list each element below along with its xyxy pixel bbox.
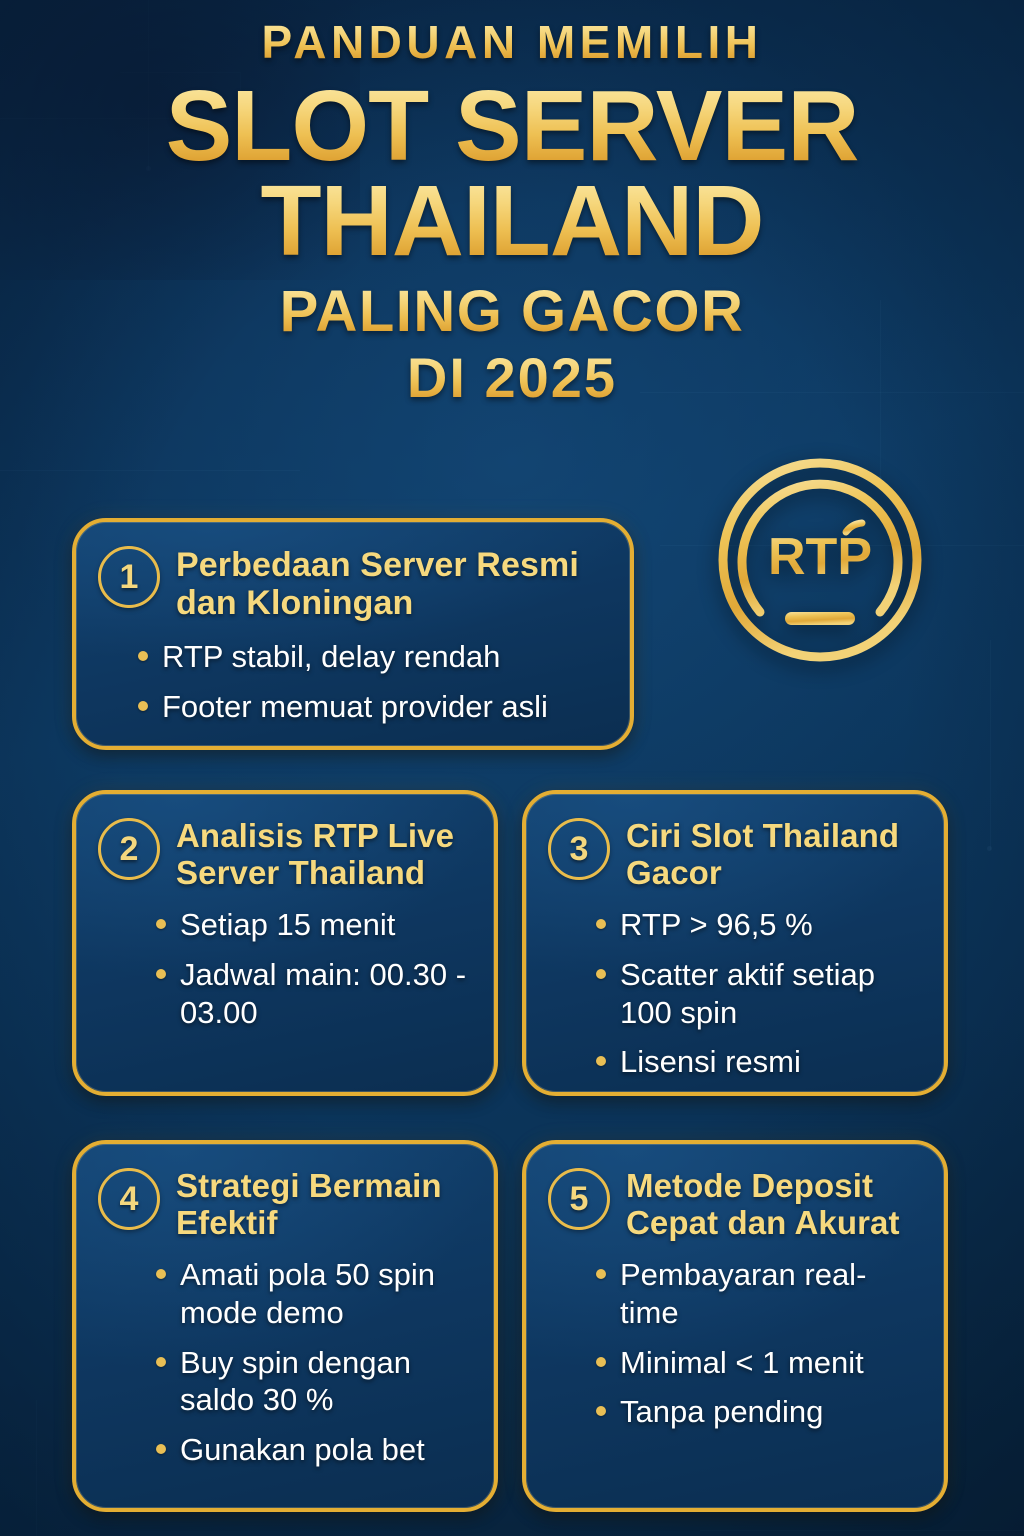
card-number-badge: 2	[98, 818, 160, 880]
subtitle-text: PALING GACOR	[0, 282, 1024, 341]
list-item: Lisensi resmi	[590, 1043, 922, 1081]
list-item: RTP stabil, delay rendah	[132, 638, 608, 676]
card-header: 1 Perbedaan Server Resmi dan Kloningan	[98, 544, 608, 622]
card-title: Metode Deposit Cepat dan Akurat	[626, 1166, 922, 1242]
card-bullet-list: Pembayaran real-time Minimal < 1 menit T…	[590, 1256, 922, 1431]
card-header: 4 Strategi Bermain Efektif	[98, 1166, 472, 1242]
card-bullet-list: RTP > 96,5 % Scatter aktif setiap 100 sp…	[590, 906, 922, 1081]
card-header: 3 Ciri Slot Thailand Gacor	[548, 816, 922, 892]
card-number-badge: 3	[548, 818, 610, 880]
card-number-badge: 5	[548, 1168, 610, 1230]
card-title: Analisis RTP Live Server Thailand	[176, 816, 472, 892]
year-text: DI 2025	[0, 349, 1024, 406]
card-bullet-list: Amati pola 50 spin mode demo Buy spin de…	[150, 1256, 472, 1469]
infographic-poster: PANDUAN MEMILIH SLOT SERVER THAILAND PAL…	[0, 0, 1024, 1536]
card-bullet-list: RTP stabil, delay rendah Footer memuat p…	[132, 638, 608, 726]
info-card-2[interactable]: 2 Analisis RTP Live Server Thailand Seti…	[72, 790, 498, 1096]
list-item: RTP > 96,5 %	[590, 906, 922, 944]
card-number-badge: 4	[98, 1168, 160, 1230]
list-item: Buy spin dengan saldo 30 %	[150, 1344, 472, 1420]
list-item: Footer memuat provider asli	[132, 688, 608, 726]
eyebrow-text: PANDUAN MEMILIH	[0, 18, 1024, 66]
list-item: Tanpa pending	[590, 1393, 922, 1431]
title-line-1: SLOT SERVER	[0, 78, 1024, 175]
card-header: 2 Analisis RTP Live Server Thailand	[98, 816, 472, 892]
list-item: Jadwal main: 00.30 - 03.00	[150, 956, 472, 1032]
card-title: Strategi Bermain Efektif	[176, 1166, 472, 1242]
card-title: Perbedaan Server Resmi dan Kloningan	[176, 544, 608, 622]
card-bullet-list: Setiap 15 menit Jadwal main: 00.30 - 03.…	[150, 906, 472, 1031]
info-card-4[interactable]: 4 Strategi Bermain Efektif Amati pola 50…	[72, 1140, 498, 1512]
info-card-1[interactable]: 1 Perbedaan Server Resmi dan Kloningan R…	[72, 518, 634, 750]
list-item: Setiap 15 menit	[150, 906, 472, 944]
list-item: Scatter aktif setiap 100 spin	[590, 956, 922, 1032]
list-item: Minimal < 1 menit	[590, 1344, 922, 1382]
card-number-badge: 1	[98, 546, 160, 608]
svg-text:RTP: RTP	[768, 528, 872, 586]
list-item: Amati pola 50 spin mode demo	[150, 1256, 472, 1332]
list-item: Gunakan pola bet	[150, 1431, 472, 1469]
info-card-3[interactable]: 3 Ciri Slot Thailand Gacor RTP > 96,5 % …	[522, 790, 948, 1096]
title-line-2: THAILAND	[0, 173, 1024, 270]
poster-header: PANDUAN MEMILIH SLOT SERVER THAILAND PAL…	[0, 18, 1024, 407]
card-title: Ciri Slot Thailand Gacor	[626, 816, 922, 892]
list-item: Pembayaran real-time	[590, 1256, 922, 1332]
info-card-5[interactable]: 5 Metode Deposit Cepat dan Akurat Pembay…	[522, 1140, 948, 1512]
rtp-gauge-icon: RTP	[712, 452, 928, 668]
card-header: 5 Metode Deposit Cepat dan Akurat	[548, 1166, 922, 1242]
